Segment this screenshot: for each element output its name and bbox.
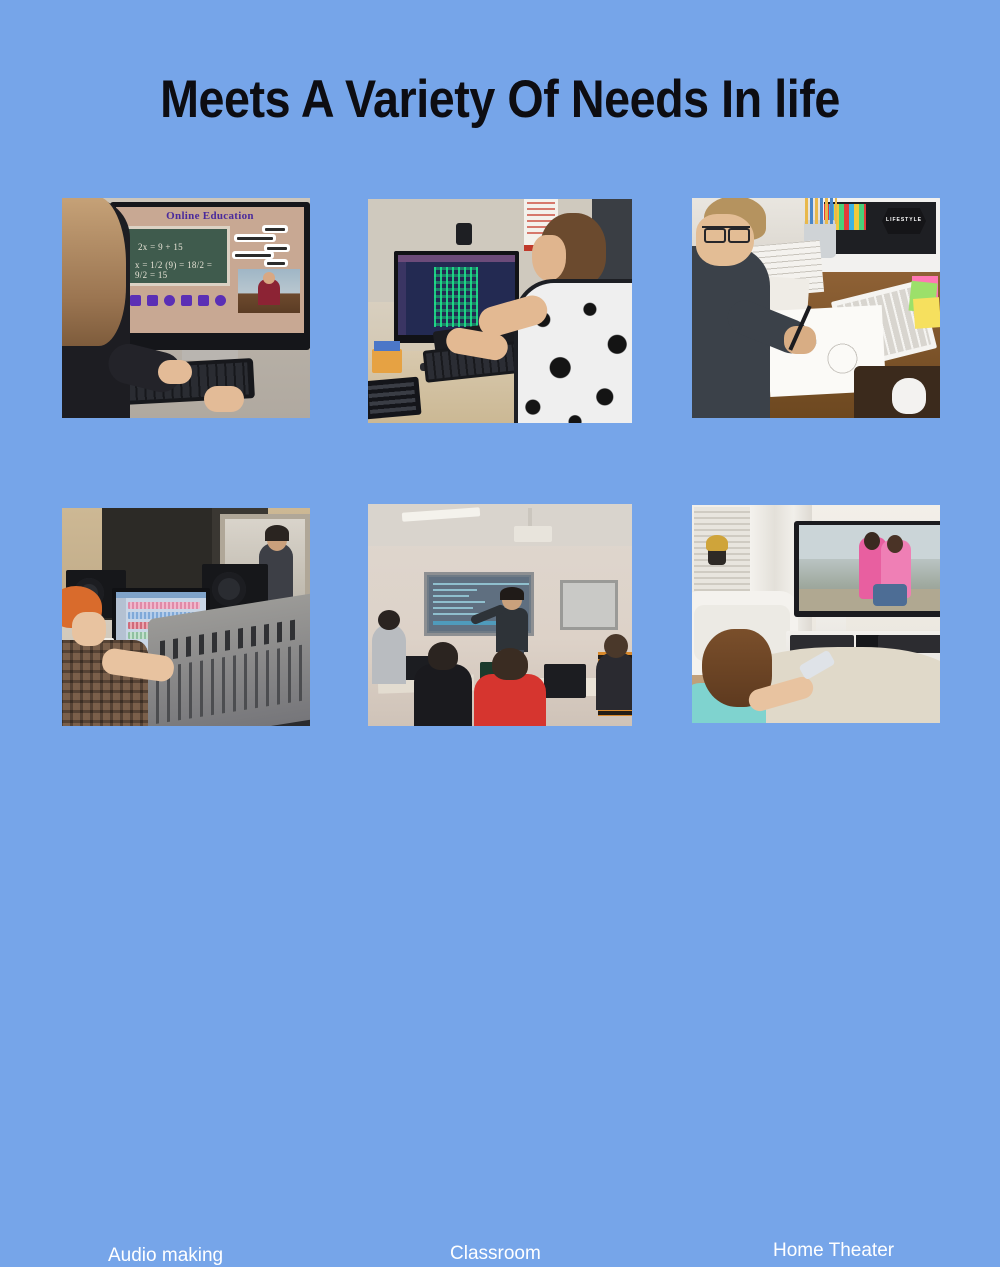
chat-icon (147, 295, 158, 306)
photo-some-offices (368, 199, 632, 423)
student (474, 674, 546, 726)
ceiling (368, 504, 632, 546)
calculator (368, 377, 422, 420)
search-icon (215, 295, 226, 306)
viewer (692, 629, 822, 723)
eyeglasses-icon (702, 226, 750, 238)
feature-item-some-offices: Some offices (368, 199, 632, 423)
wall-mounted-tv (794, 521, 940, 617)
student (414, 664, 472, 726)
feature-item-audio-making: Audio making (62, 508, 310, 726)
pencils (805, 198, 837, 224)
caption-audio-making: Audio making (108, 1245, 223, 1267)
screen-toolbar (130, 293, 230, 307)
screen-title: Online Education (116, 210, 304, 222)
monitor-screen: Online Education 2x = 9 + 15 x = 1/2 (9)… (116, 207, 304, 333)
feature-item-education: Online Education 2x = 9 + 15 x = 1/2 (9)… (62, 198, 310, 418)
logo-text: LIFESTYLE (878, 217, 930, 223)
worker-face (532, 235, 566, 281)
app-sidebar (398, 262, 406, 335)
tv-person-legs (873, 584, 907, 606)
instructor-hair (500, 587, 524, 600)
photo-home-theater (692, 505, 940, 723)
student-hand-left (158, 360, 192, 384)
projected-line (433, 583, 529, 585)
feature-item-some-designs: LIFESTYLE (692, 198, 940, 418)
vocalist-hair (265, 525, 289, 541)
student-monitor (544, 664, 586, 698)
designer (692, 198, 798, 418)
promo-banner: Meets A Variety Of Needs In life Online … (0, 0, 1000, 823)
student (596, 652, 632, 710)
projected-line (433, 607, 473, 609)
equation-line-1: 2x = 9 + 15 (138, 242, 183, 252)
trash-icon (181, 295, 192, 306)
participants-icon (164, 295, 175, 306)
potted-plant (708, 549, 726, 565)
chat-bubble (262, 225, 288, 233)
chalkboard: 2x = 9 + 15 x = 1/2 (9) = 18/2 = 9/2 = 1… (123, 226, 230, 286)
video-tile (238, 269, 300, 313)
monitor: LIFESTYLE (820, 198, 940, 272)
caption-classroom: Classroom (450, 1243, 541, 1265)
logo-artwork: LIFESTYLE (878, 204, 930, 238)
desk-box (372, 349, 402, 373)
student-hair (62, 198, 126, 346)
chat-bubble (232, 251, 274, 259)
mouse (892, 378, 926, 414)
feature-item-classroom: Classroom (368, 504, 632, 726)
chat-bubbles (234, 225, 302, 265)
instructor-body (496, 608, 528, 652)
webcam (456, 223, 472, 245)
office-worker (512, 213, 632, 423)
video-icon (130, 295, 141, 306)
equation-line-2: x = 1/2 (9) = 18/2 = 9/2 = 15 (135, 260, 227, 280)
feature-grid: Online Education 2x = 9 + 15 x = 1/2 (9)… (0, 0, 1000, 823)
tv-screen (799, 525, 940, 611)
projector-mount (528, 508, 532, 528)
projector (514, 526, 552, 542)
feature-item-home-theater: Home Theater (692, 505, 940, 723)
speaker-icon (198, 295, 209, 306)
photo-audio-making (62, 508, 310, 726)
sticky-note-yellow (913, 297, 940, 329)
audio-engineer (62, 586, 146, 726)
engineer-face (72, 612, 106, 646)
video-participant-head (263, 272, 275, 284)
chat-bubble (264, 259, 288, 267)
data-visualization (434, 267, 478, 327)
chat-bubble (234, 234, 276, 242)
projected-line (433, 595, 469, 597)
student (372, 624, 406, 684)
photo-some-designs: LIFESTYLE (692, 198, 940, 418)
student-hand-right (204, 386, 244, 412)
projected-line (433, 589, 477, 591)
whiteboard (560, 580, 618, 630)
photo-classroom (368, 504, 632, 726)
caption-home-theater: Home Theater (773, 1240, 894, 1262)
app-titlebar (398, 255, 515, 262)
projected-line (433, 601, 485, 603)
photo-education: Online Education 2x = 9 + 15 x = 1/2 (9)… (62, 198, 310, 418)
